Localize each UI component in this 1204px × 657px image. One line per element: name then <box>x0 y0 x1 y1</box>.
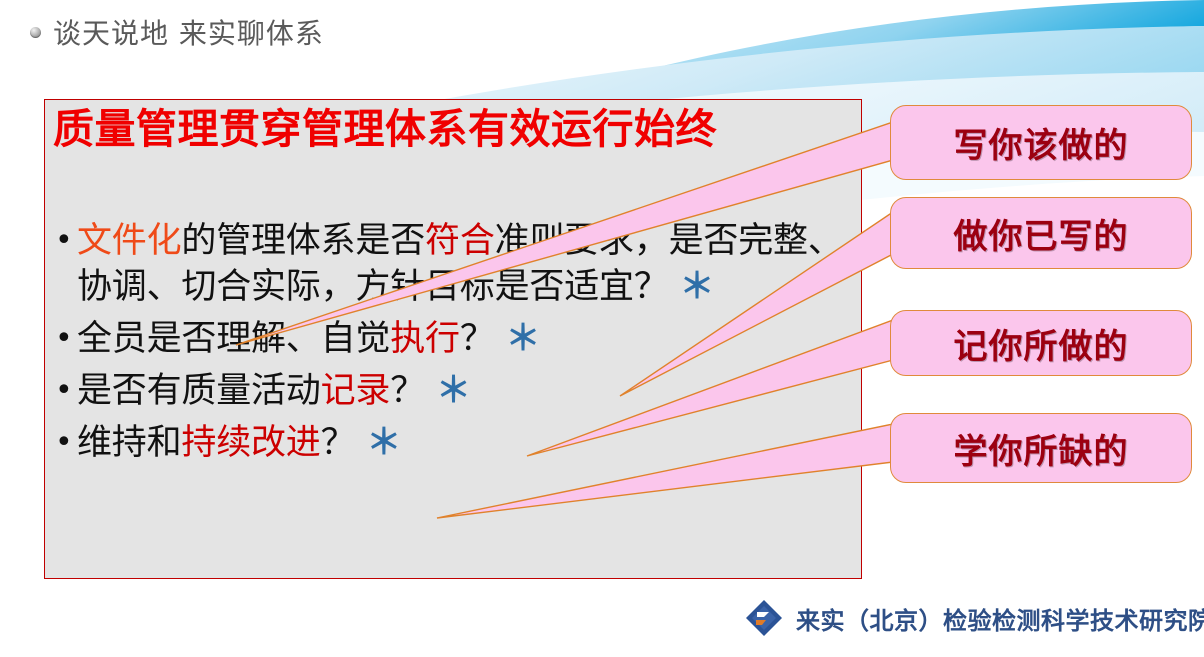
bullet-marker-icon: • <box>55 218 77 264</box>
bullet-segment-orange: 文件化 <box>77 221 181 261</box>
bullet-quality-records: • 是否有质量活动记录？ ＊ <box>55 368 855 414</box>
bullet-segment-red: 执行 <box>390 319 460 359</box>
bullet-marker-icon: • <box>55 316 77 362</box>
bullet-list: • 文件化的管理体系是否符合准则要求，是否完整、协调、切合实际，方针目标是否适宜… <box>55 218 855 472</box>
box-heading: 质量管理贯穿管理体系有效运行始终 <box>53 106 853 153</box>
bullet-marker-icon: • <box>55 420 77 466</box>
callout-label: 写你该做的 <box>954 118 1129 167</box>
bullet-segment-star: ＊ <box>366 423 401 463</box>
page-title: 谈天说地 来实聊体系 <box>30 12 324 52</box>
bullet-segment-red: 记录 <box>321 371 391 411</box>
bullet-text: 文件化的管理体系是否符合准则要求，是否完整、协调、切合实际，方针目标是否适宜？ … <box>77 218 855 310</box>
content-box: 质量管理贯穿管理体系有效运行始终 • 文件化的管理体系是否符合准则要求，是否完整… <box>44 99 862 579</box>
bullet-text: 是否有质量活动记录？ ＊ <box>77 368 855 414</box>
bullet-segment-plain: 维持和 <box>77 423 181 463</box>
callout-do[interactable]: 做你已写的 <box>890 197 1192 269</box>
footer: 来实（北京）检验检测科学技术研究院 <box>744 598 1204 638</box>
bullet-text: 全员是否理解、自觉执行？ ＊ <box>77 316 855 362</box>
bullet-segment-plain: 的管理体系是否 <box>181 221 425 261</box>
callout-label: 记你所做的 <box>954 319 1129 368</box>
bullet-segment-plain: 全员是否理解、自觉 <box>77 319 390 359</box>
callout-record[interactable]: 记你所做的 <box>890 310 1192 376</box>
bullet-segment-star: ＊ <box>680 267 715 307</box>
bullet-segment-plain: ？ <box>460 319 506 359</box>
bullet-staff-execution: • 全员是否理解、自觉执行？ ＊ <box>55 316 855 362</box>
bullet-continual-improvement: • 维持和持续改进？ ＊ <box>55 420 855 466</box>
bullet-segment-plain: ？ <box>321 423 367 463</box>
callout-label: 学你所缺的 <box>954 424 1129 473</box>
sphere-bullet-icon <box>30 27 41 38</box>
bullet-documented-system: • 文件化的管理体系是否符合准则要求，是否完整、协调、切合实际，方针目标是否适宜… <box>55 218 855 310</box>
bullet-segment-star: ＊ <box>506 319 541 359</box>
footer-organization: 来实（北京）检验检测科学技术研究院 <box>796 601 1204 636</box>
bullet-segment-plain: 是否有质量活动 <box>77 371 321 411</box>
bullet-segment-red: 符合 <box>425 221 495 261</box>
callout-write[interactable]: 写你该做的 <box>890 105 1192 180</box>
callout-learn[interactable]: 学你所缺的 <box>890 413 1192 483</box>
callout-label: 做你已写的 <box>954 209 1129 258</box>
bullet-segment-red: 持续改进 <box>181 423 320 463</box>
diamond-logo-icon <box>744 598 784 638</box>
slide-canvas: 谈天说地 来实聊体系 质量管理贯穿管理体系有效运行始终 • 文件化的管理体系是否… <box>0 0 1204 657</box>
bullet-segment-star: ＊ <box>436 371 471 411</box>
page-title-text: 谈天说地 来实聊体系 <box>53 12 324 52</box>
bullet-text: 维持和持续改进？ ＊ <box>77 420 855 466</box>
bullet-marker-icon: • <box>55 368 77 414</box>
bullet-segment-plain: ？ <box>390 371 436 411</box>
